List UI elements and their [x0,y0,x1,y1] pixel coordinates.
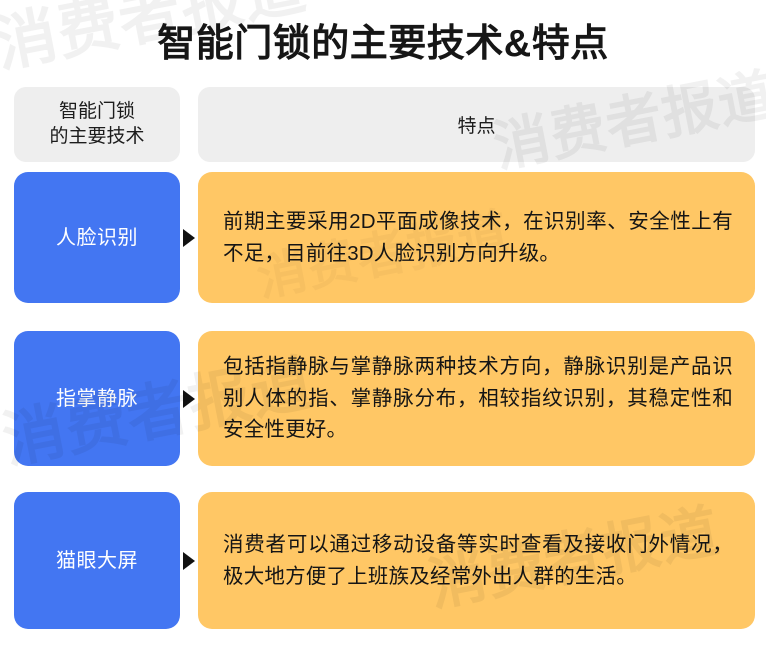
header-cell-feature: 特点 [198,87,755,162]
technology-box[interactable]: 指掌静脉 [14,331,180,466]
row-arrow [180,492,198,629]
feature-text: 包括指静脉与掌静脉两种技术方向，静脉识别是产品识别人体的指、掌静脉分布，相较指纹… [223,351,733,446]
row-arrow [180,172,198,303]
header-cell-technology: 智能门锁 的主要技术 [14,87,180,162]
technology-box[interactable]: 人脸识别 [14,172,180,303]
feature-text: 前期主要采用2D平面成像技术，在识别率、安全性上有不足，目前往3D人脸识别方向升… [223,206,733,270]
table-row[interactable]: 猫眼大屏 消费者可以通过移动设备等实时查看及接收门外情况，极大地方便了上班族及经… [14,492,755,629]
header-arrow-spacer [180,87,198,162]
header-technology-line1: 智能门锁 [49,100,144,124]
feature-box: 包括指静脉与掌静脉两种技术方向，静脉识别是产品识别人体的指、掌静脉分布，相较指纹… [198,331,755,466]
feature-box: 前期主要采用2D平面成像技术，在识别率、安全性上有不足，目前往3D人脸识别方向升… [198,172,755,303]
arrow-right-icon [183,552,195,570]
technology-label: 人脸识别 [56,225,138,251]
table-row[interactable]: 人脸识别 前期主要采用2D平面成像技术，在识别率、安全性上有不足，目前往3D人脸… [14,172,755,303]
header-feature-label: 特点 [457,111,495,138]
table-header-row: 智能门锁 的主要技术 特点 [14,87,755,162]
tech-table: 智能门锁 的主要技术 特点 人脸识别 前期主要采用2D平面成像技术，在识别率、安… [0,0,766,661]
header-technology-line2: 的主要技术 [49,125,144,149]
arrow-right-icon [183,390,195,408]
technology-label: 指掌静脉 [56,386,138,412]
technology-label: 猫眼大屏 [56,548,138,574]
feature-box: 消费者可以通过移动设备等实时查看及接收门外情况，极大地方便了上班族及经常外出人群… [198,492,755,629]
feature-text: 消费者可以通过移动设备等实时查看及接收门外情况，极大地方便了上班族及经常外出人群… [223,529,733,593]
row-arrow [180,331,198,466]
technology-box[interactable]: 猫眼大屏 [14,492,180,629]
arrow-right-icon [183,229,195,247]
infographic-page: 智能门锁的主要技术&特点 智能门锁 的主要技术 特点 人脸识别 [0,0,766,661]
table-row[interactable]: 指掌静脉 包括指静脉与掌静脉两种技术方向，静脉识别是产品识别人体的指、掌静脉分布… [14,331,755,466]
